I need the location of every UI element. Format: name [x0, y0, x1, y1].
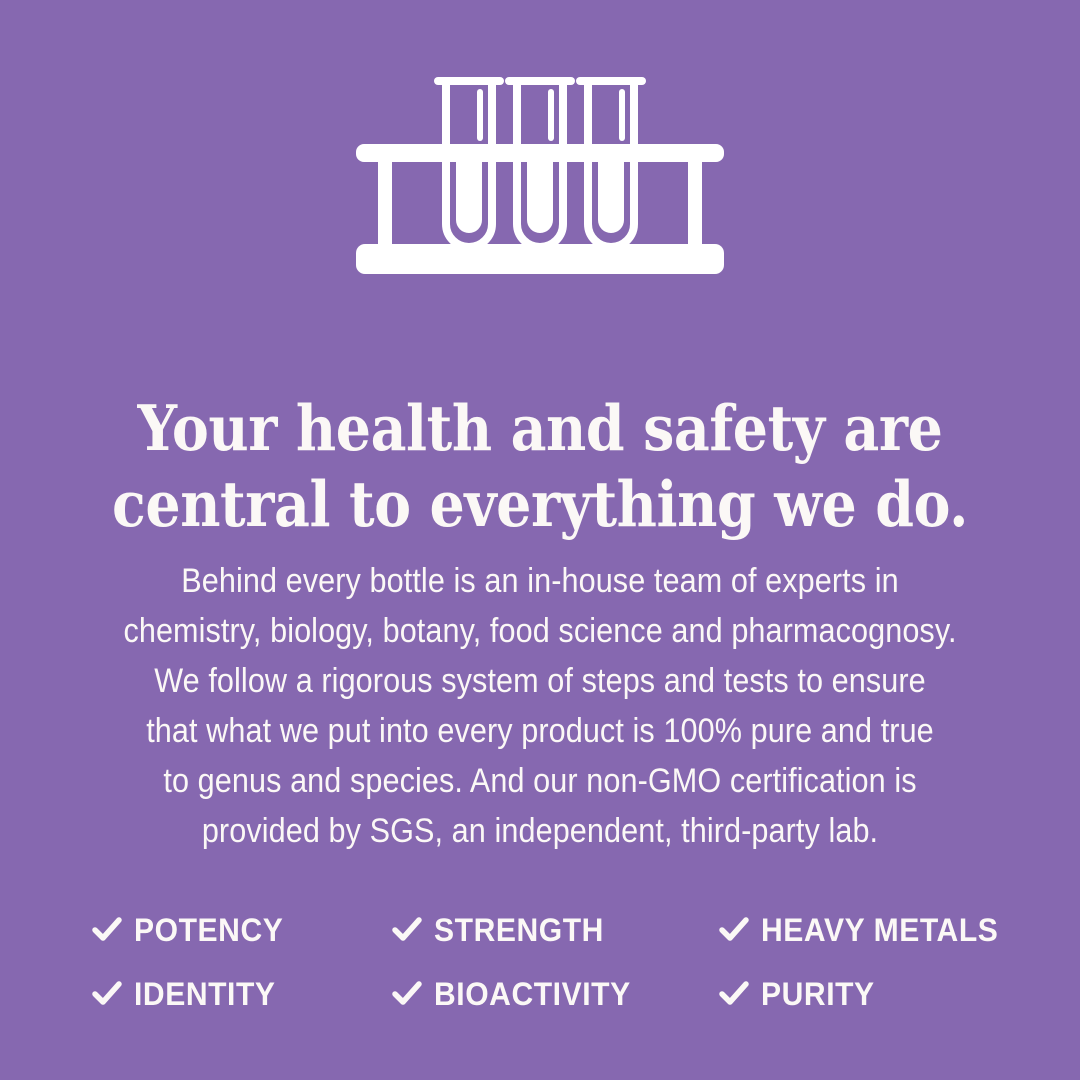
check-icon [392, 915, 422, 945]
rack-top-shelf [356, 144, 724, 162]
test-tube-highlight-group [480, 92, 622, 138]
checklist-label: BIOACTIVITY [434, 977, 631, 1011]
checklist-label: IDENTITY [134, 977, 276, 1011]
check-icon [92, 979, 122, 1009]
test-attributes-checklist: POTENCY STRENGTH HEAVY METALS IDENTITY B [92, 898, 1012, 1026]
test-tube-1-liquid [456, 157, 482, 233]
checklist-item-heavy-metals: HEAVY METALS [719, 913, 1012, 947]
test-tube-rack-icon [0, 64, 1080, 288]
checklist-label: HEAVY METALS [761, 913, 998, 947]
checklist-item-potency: POTENCY [92, 913, 392, 947]
checklist-item-purity: PURITY [719, 977, 1012, 1011]
checklist-item-bioactivity: BIOACTIVITY [392, 977, 719, 1011]
test-tube-2-liquid [527, 157, 553, 233]
test-tube-3-liquid [598, 157, 624, 233]
rack-base [356, 244, 724, 274]
rack-right-leg [688, 152, 702, 248]
checklist-item-strength: STRENGTH [392, 913, 719, 947]
rack-left-leg [378, 152, 392, 248]
check-icon [719, 915, 749, 945]
check-icon [92, 915, 122, 945]
checklist-label: POTENCY [134, 913, 283, 947]
check-icon [719, 979, 749, 1009]
body-paragraph: Behind every bottle is an in-house team … [108, 556, 972, 856]
checklist-item-identity: IDENTITY [92, 977, 392, 1011]
lab-testing-promo-card: Your health and safety are central to ev… [0, 0, 1080, 1080]
test-tube-rack-graphic [356, 64, 724, 280]
page-title: Your health and safety are central to ev… [109, 390, 971, 542]
checklist-label: STRENGTH [434, 913, 604, 947]
test-tube-liquid-group [456, 157, 624, 233]
check-icon [392, 979, 422, 1009]
checklist-label: PURITY [761, 977, 875, 1011]
